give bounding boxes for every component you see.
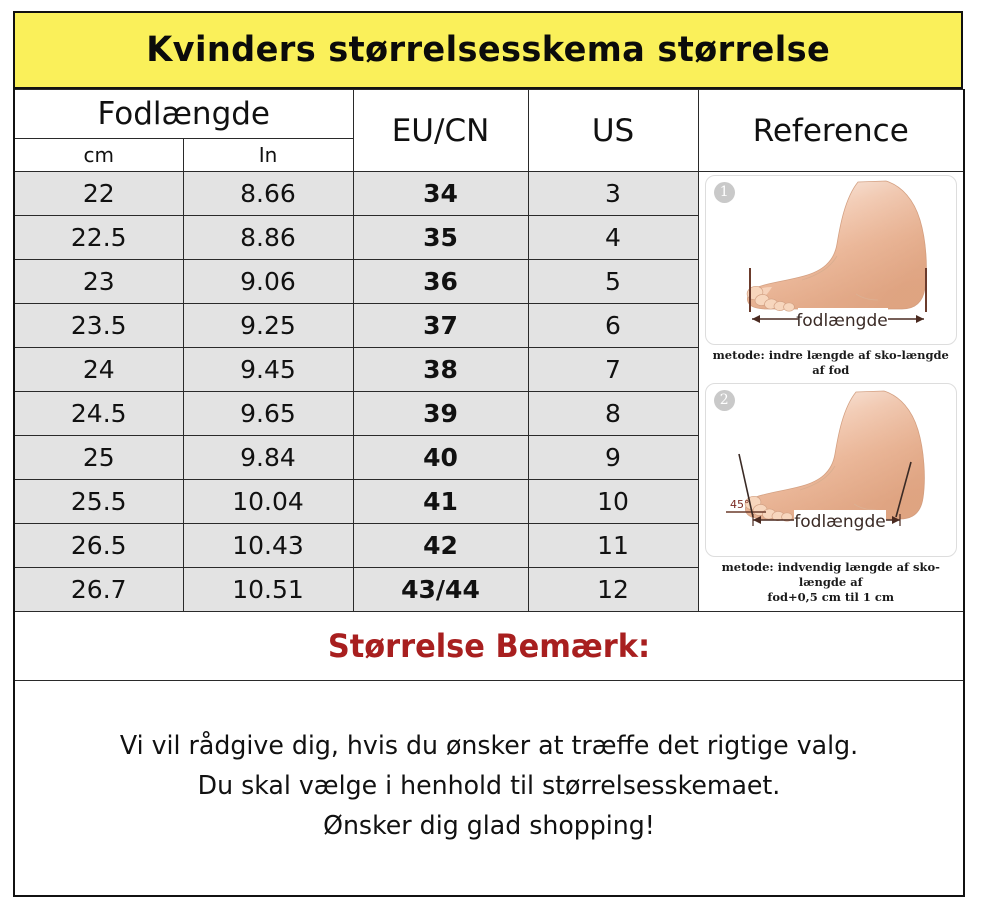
cell-cm: 25.5 <box>14 480 183 524</box>
reference-diagram-2: 2 <box>705 383 957 607</box>
cell-us: 11 <box>528 524 698 568</box>
cell-in: 9.65 <box>183 392 353 436</box>
cell-cm: 26.5 <box>14 524 183 568</box>
page-title: Kvinders størrelsesskema størrelse <box>146 30 830 70</box>
diagram-1-card: 1 <box>705 175 957 345</box>
reference-diagram-1: 1 <box>705 175 957 380</box>
header-in: In <box>183 139 353 172</box>
foot-side-view-icon: fodlængde <box>706 176 957 344</box>
cell-us: 9 <box>528 436 698 480</box>
reference-cell: 1 <box>698 172 964 612</box>
note-line-3: Ønsker dig glad shopping! <box>39 806 939 846</box>
cell-us: 3 <box>528 172 698 216</box>
cell-us: 5 <box>528 260 698 304</box>
cell-in: 9.06 <box>183 260 353 304</box>
cell-cm: 23.5 <box>14 304 183 348</box>
diagram-2-measure-label: fodlængde <box>794 512 885 532</box>
diagram-2-angle-label: 45° <box>730 498 750 511</box>
cell-eu: 43/44 <box>353 568 528 612</box>
cell-in: 9.84 <box>183 436 353 480</box>
table-header-row-1: Fodlængde EU/CN US Reference <box>14 90 964 139</box>
cell-eu: 38 <box>353 348 528 392</box>
cell-in: 9.25 <box>183 304 353 348</box>
cell-us: 4 <box>528 216 698 260</box>
size-chart-table: Fodlængde EU/CN US Reference cm In 22 8.… <box>13 89 965 897</box>
diagram-2-caption: metode: indvendig længde af sko-længde a… <box>705 557 957 607</box>
foot-side-view-angled-icon: 45° fodlængde <box>706 384 957 556</box>
note-line-2: Du skal vælge i henhold til størrelsessk… <box>39 766 939 806</box>
diagram-2-caption-line1: metode: indvendig længde af sko-længde a… <box>709 560 953 590</box>
cell-cm: 26.7 <box>14 568 183 612</box>
cell-eu: 40 <box>353 436 528 480</box>
note-line-1: Vi vil rådgive dig, hvis du ønsker at tr… <box>39 726 939 766</box>
cell-cm: 24 <box>14 348 183 392</box>
cell-eu: 39 <box>353 392 528 436</box>
cell-us: 8 <box>528 392 698 436</box>
header-foot-length: Fodlængde <box>14 90 353 139</box>
cell-cm: 25 <box>14 436 183 480</box>
size-chart: Kvinders størrelsesskema størrelse Fodlæ… <box>13 11 963 861</box>
cell-eu: 41 <box>353 480 528 524</box>
cell-eu: 42 <box>353 524 528 568</box>
cell-in: 10.43 <box>183 524 353 568</box>
header-us: US <box>528 90 698 172</box>
cell-cm: 22.5 <box>14 216 183 260</box>
cell-us: 6 <box>528 304 698 348</box>
cell-us: 7 <box>528 348 698 392</box>
header-eu-cn: EU/CN <box>353 90 528 172</box>
table-row: 22 8.66 34 3 1 <box>14 172 964 216</box>
cell-eu: 35 <box>353 216 528 260</box>
cell-us: 12 <box>528 568 698 612</box>
diagram-1-caption: metode: indre længde af sko-længde af fo… <box>705 345 957 380</box>
note-heading-cell: Størrelse Bemærk: <box>14 612 964 681</box>
cell-eu: 36 <box>353 260 528 304</box>
cell-in: 8.66 <box>183 172 353 216</box>
diagram-2-card: 2 <box>705 383 957 557</box>
chart-title-bar: Kvinders størrelsesskema størrelse <box>13 11 963 89</box>
diagram-2-caption-line2: fod+0,5 cm til 1 cm <box>709 590 953 605</box>
cell-in: 10.04 <box>183 480 353 524</box>
diagram-1-measure-label: fodlængde <box>796 311 887 331</box>
header-cm: cm <box>14 139 183 172</box>
cell-in: 8.86 <box>183 216 353 260</box>
note-body-cell: Vi vil rådgive dig, hvis du ønsker at tr… <box>14 681 964 897</box>
cell-us: 10 <box>528 480 698 524</box>
note-body: Vi vil rådgive dig, hvis du ønsker at tr… <box>39 726 939 846</box>
header-reference: Reference <box>698 90 964 172</box>
cell-cm: 23 <box>14 260 183 304</box>
cell-eu: 34 <box>353 172 528 216</box>
note-body-row: Vi vil rådgive dig, hvis du ønsker at tr… <box>14 681 964 897</box>
note-heading-row: Størrelse Bemærk: <box>14 612 964 681</box>
cell-cm: 22 <box>14 172 183 216</box>
cell-cm: 24.5 <box>14 392 183 436</box>
cell-in: 9.45 <box>183 348 353 392</box>
note-heading: Størrelse Bemærk: <box>39 627 940 665</box>
cell-in: 10.51 <box>183 568 353 612</box>
cell-eu: 37 <box>353 304 528 348</box>
